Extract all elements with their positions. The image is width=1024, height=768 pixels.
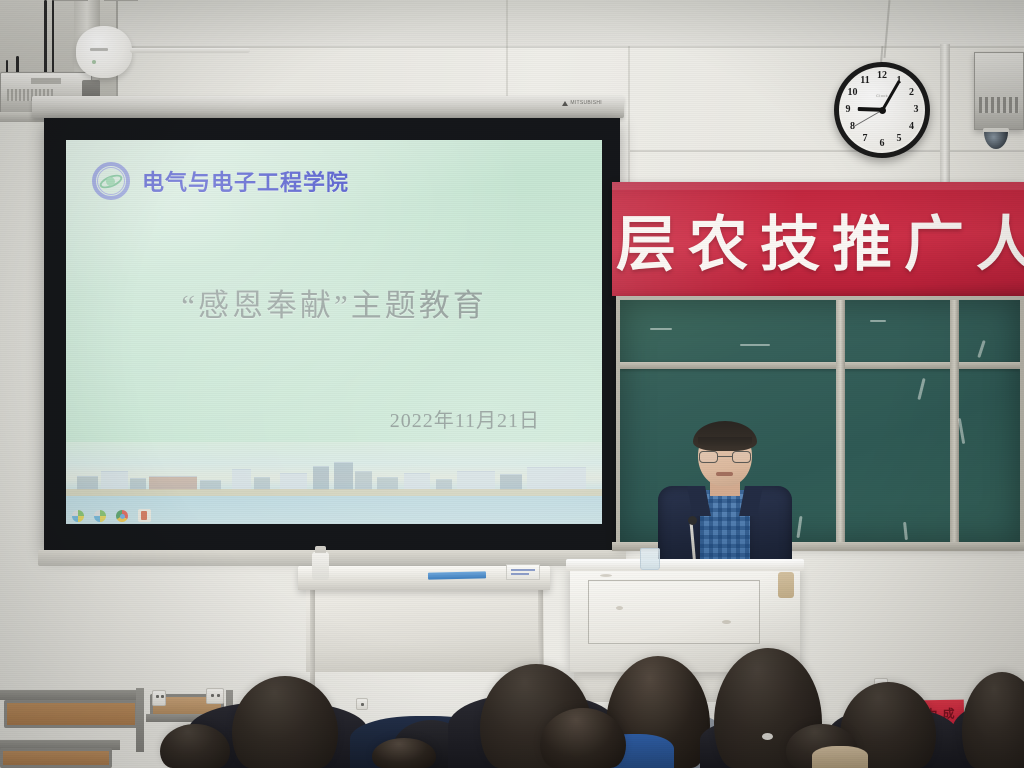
- slide-title: “感恩奉献”主题教育: [66, 280, 602, 325]
- wifi-ap-label: [90, 48, 108, 51]
- wifi-ap-status-led: [92, 60, 96, 64]
- slide-taskbar-icons: [72, 509, 151, 522]
- clock-numeral: 11: [858, 75, 872, 87]
- screen-brand-text: MITSUBISHI: [570, 100, 602, 106]
- water-bottle: [312, 552, 329, 580]
- clock-numeral: 4: [904, 121, 918, 133]
- wall-clock: Clock 121234567891011: [834, 62, 930, 158]
- projector-cable: [44, 0, 47, 78]
- air-conditioner-unit: [974, 52, 1024, 130]
- audience-head: [372, 738, 436, 768]
- triangle-logo-icon: [562, 101, 568, 106]
- podium-top-surface: [566, 559, 804, 571]
- wifi-access-point: [76, 26, 132, 78]
- camera-dome-lens: [984, 132, 1008, 149]
- clock-numeral: 2: [904, 87, 918, 99]
- audience: [0, 618, 1024, 768]
- document-icon: [138, 509, 151, 522]
- clock-numeral: 6: [875, 138, 889, 150]
- multi-color-icon: [94, 510, 106, 522]
- clock-numeral: 5: [892, 133, 906, 145]
- glasses-icon: [699, 451, 751, 463]
- clock-numeral: 3: [909, 104, 923, 116]
- clock-brand-label: Clock: [876, 93, 888, 98]
- blue-folder: [428, 571, 486, 579]
- wall-vertical-line: [628, 46, 630, 186]
- ceiling-cable-duct: [130, 48, 250, 53]
- audience-head: [962, 672, 1024, 768]
- projection-screen: 电气与电子工程学院 “感恩奉献”主题教育 2022年11月21日: [44, 118, 620, 550]
- clock-numeral: 12: [875, 70, 889, 82]
- wall-upper-band: [0, 0, 1024, 46]
- podium-microphone: [688, 516, 697, 525]
- clock-center-pin: [879, 107, 886, 114]
- slide-date: 2022年11月21日: [390, 404, 540, 433]
- red-event-banner: 层农技推广人: [612, 182, 1024, 296]
- slide-header: 电气与电子工程学院: [92, 162, 349, 200]
- blackboard-divider: [620, 362, 1020, 369]
- wall-vertical-line: [506, 0, 508, 96]
- orbital-ring-logo-icon: [92, 162, 130, 200]
- projector-label-plate: [31, 78, 61, 84]
- skyline-shoreline: [66, 489, 602, 496]
- screen-mount-clip: [54, 0, 88, 1]
- slide-cityscape-image: [66, 442, 602, 524]
- screen-brand-label: MITSUBISHI: [562, 100, 602, 106]
- multi-color-icon: [72, 510, 84, 522]
- wall-seam: [630, 150, 1024, 152]
- podium-edge-wear: [778, 572, 794, 598]
- chrome-icon: [116, 510, 128, 522]
- banner-text: 层农技推广人: [612, 196, 1024, 283]
- hair-tie: [762, 733, 773, 740]
- audience-head: [232, 676, 338, 768]
- screen-mount-clip: [104, 0, 138, 1]
- projection-screen-housing: MITSUBISHI: [32, 96, 624, 118]
- lecture-hall-scene: MITSUBISHI 电气与电子工程学院 “感恩奉献”主题教育 2022年11月…: [0, 0, 1024, 768]
- dome-security-camera: [981, 128, 1011, 150]
- audience-shoulders: [812, 746, 868, 768]
- clock-numeral: 7: [858, 133, 872, 145]
- speaker-hair: [693, 421, 757, 451]
- presentation-slide: 电气与电子工程学院 “感恩奉献”主题教育 2022年11月21日: [66, 140, 602, 524]
- name-card: [506, 564, 540, 580]
- speaker-mouth: [716, 472, 733, 476]
- ac-vent-grill: [979, 97, 1019, 113]
- clock-numeral: 10: [846, 87, 860, 99]
- bottle-cap: [315, 546, 326, 553]
- skyline-group: [66, 460, 602, 490]
- department-name: 电气与电子工程学院: [142, 165, 349, 197]
- banner-fold: [612, 182, 1024, 190]
- water-glass: [640, 548, 660, 570]
- clock-numeral: 9: [841, 104, 855, 116]
- blackboard-divider: [836, 300, 845, 542]
